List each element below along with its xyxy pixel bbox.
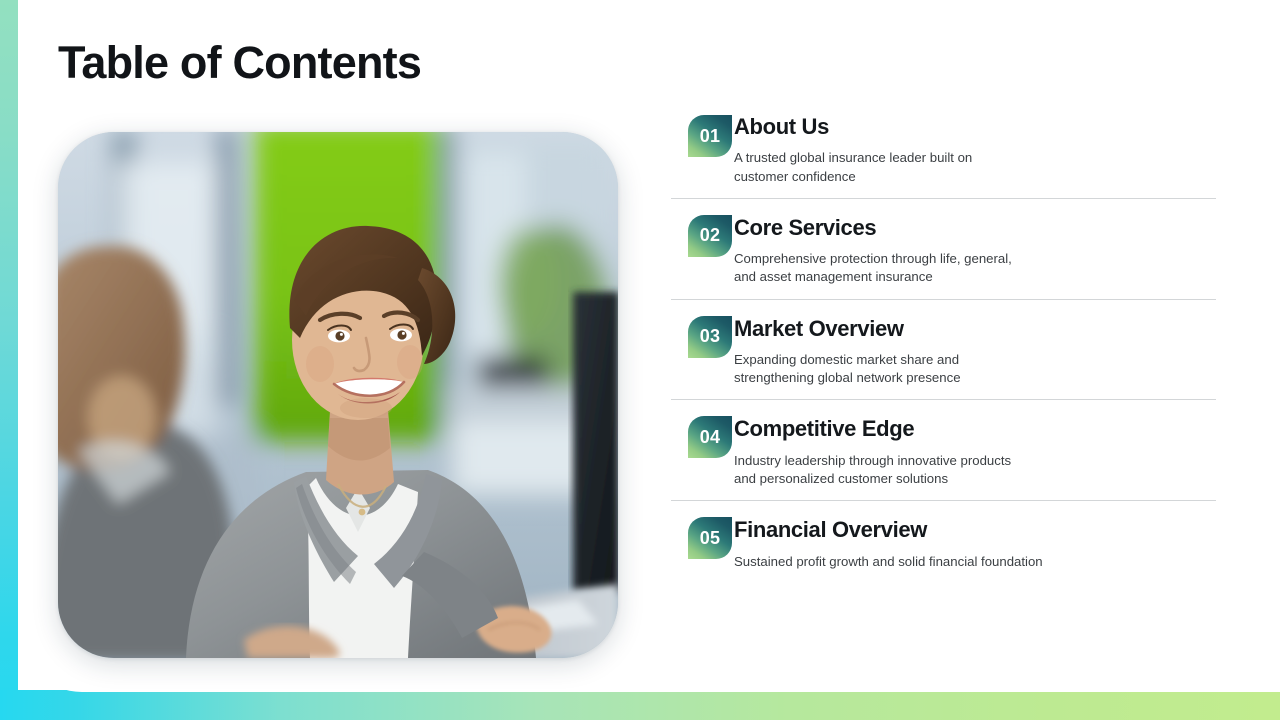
- frame-left-gradient-bar: [0, 0, 18, 720]
- toc-number-badge: 02: [688, 215, 732, 257]
- slide-content-card: Table of Contents: [18, 0, 1280, 692]
- toc-item-title: Competitive Edge: [734, 416, 1216, 442]
- page-title: Table of Contents: [58, 38, 421, 88]
- toc-item-title: Market Overview: [734, 316, 1216, 342]
- toc-item-title: About Us: [734, 114, 1216, 140]
- frame-bottom-gradient-bar: [0, 690, 1280, 720]
- toc-item-title: Financial Overview: [734, 517, 1216, 543]
- toc-item-title: Core Services: [734, 215, 1216, 241]
- toc-number-badge: 05: [688, 517, 732, 559]
- table-of-contents-list: 01 About Us A trusted global insurance l…: [671, 128, 1216, 583]
- toc-number-badge: 04: [688, 416, 732, 458]
- hero-photo-frame: [58, 132, 618, 658]
- toc-item-3[interactable]: 03 Market Overview Expanding domestic ma…: [671, 300, 1216, 401]
- toc-item-description: Expanding domestic market share and stre…: [734, 351, 1154, 387]
- toc-item-description: Industry leadership through innovative p…: [734, 452, 1154, 488]
- toc-number-badge: 01: [688, 115, 732, 157]
- toc-item-5[interactable]: 05 Financial Overview Sustained profit g…: [671, 501, 1216, 583]
- slide-root: Table of Contents: [0, 0, 1280, 720]
- toc-item-4[interactable]: 04 Competitive Edge Industry leadership …: [671, 400, 1216, 501]
- toc-item-2[interactable]: 02 Core Services Comprehensive protectio…: [671, 199, 1216, 300]
- toc-number-badge: 03: [688, 316, 732, 358]
- toc-item-1[interactable]: 01 About Us A trusted global insurance l…: [671, 114, 1216, 199]
- toc-item-description: Comprehensive protection through life, g…: [734, 250, 1154, 286]
- toc-item-description: Sustained profit growth and solid financ…: [734, 553, 1154, 571]
- office-meeting-photo: [58, 132, 618, 658]
- toc-item-description: A trusted global insurance leader built …: [734, 149, 1154, 185]
